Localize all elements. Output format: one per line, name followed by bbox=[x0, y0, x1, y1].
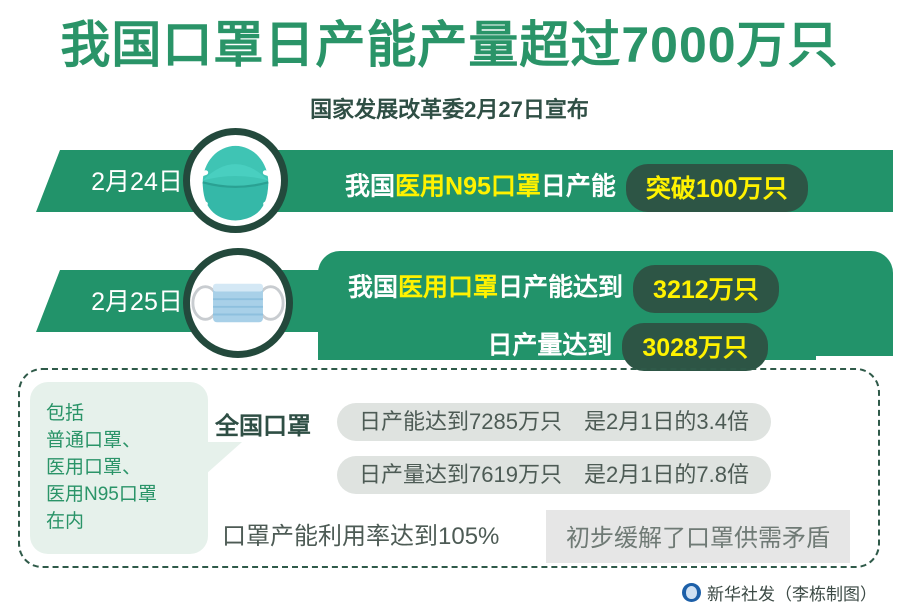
surgical-mask-icon bbox=[183, 248, 293, 358]
panel-pill-capacity-compare: 是2月1日的3.4倍 bbox=[584, 409, 749, 434]
panel-pill-output: 日产量达到7619万只是2月1日的7.8倍 bbox=[337, 456, 771, 494]
panel-pill-output-metric: 日产量达到7619万只 bbox=[359, 462, 562, 487]
row-2-line2-label: 日产量达到 bbox=[487, 332, 612, 360]
row-2-capacity-pill: 3212万只 bbox=[633, 265, 779, 313]
footer-credit: 新华社发（李栋制图） bbox=[682, 580, 877, 605]
n95-mask-icon bbox=[183, 128, 288, 233]
row-2-line1-highlight: 医用口罩 bbox=[398, 274, 498, 302]
panel-pill-capacity-metric: 日产能达到7285万只 bbox=[359, 409, 562, 434]
inclusion-bubble-text: 包括 普通口罩、 医用口罩、 医用N95口罩 在内 bbox=[46, 400, 206, 535]
row-2-statement-line-1: 我国医用口罩日产能达到3212万只 bbox=[348, 265, 779, 313]
row-2-line1-suffix: 日产能达到 bbox=[498, 274, 623, 302]
panel-pill-capacity: 日产能达到7285万只是2月1日的3.4倍 bbox=[337, 403, 771, 441]
row-2-output-pill: 3028万只 bbox=[622, 323, 768, 371]
utilization-rate-text: 口罩产能利用率达到105% bbox=[222, 516, 499, 551]
conclusion-box: 初步缓解了口罩供需矛盾 bbox=[546, 510, 850, 563]
panel-label-national-masks: 全国口罩 bbox=[215, 406, 311, 441]
xinhua-logo-icon bbox=[682, 583, 701, 602]
panel-pill-output-compare: 是2月1日的7.8倍 bbox=[584, 462, 749, 487]
page-subtitle: 国家发展改革委2月27日宣布 bbox=[0, 92, 899, 124]
row-2-line1-prefix: 我国 bbox=[348, 274, 398, 302]
page-title: 我国口罩日产能产量超过7000万只 bbox=[0, 18, 899, 73]
infographic-root: 我国口罩日产能产量超过7000万只 国家发展改革委2月27日宣布 2月24日 我… bbox=[0, 0, 899, 610]
row-1-text-highlight: 医用N95口罩 bbox=[395, 173, 541, 201]
row-1-value-pill: 突破100万只 bbox=[626, 164, 808, 212]
row-2-statement-line-2: 日产量达到3028万只 bbox=[348, 323, 768, 371]
row-1-text-prefix: 我国 bbox=[345, 173, 395, 201]
row-1-text-suffix: 日产能 bbox=[541, 173, 616, 201]
row-1-statement: 我国医用N95口罩日产能突破100万只 bbox=[345, 164, 808, 212]
footer-credit-text: 新华社发（李栋制图） bbox=[707, 580, 877, 605]
inclusion-bubble-tail bbox=[206, 442, 242, 474]
